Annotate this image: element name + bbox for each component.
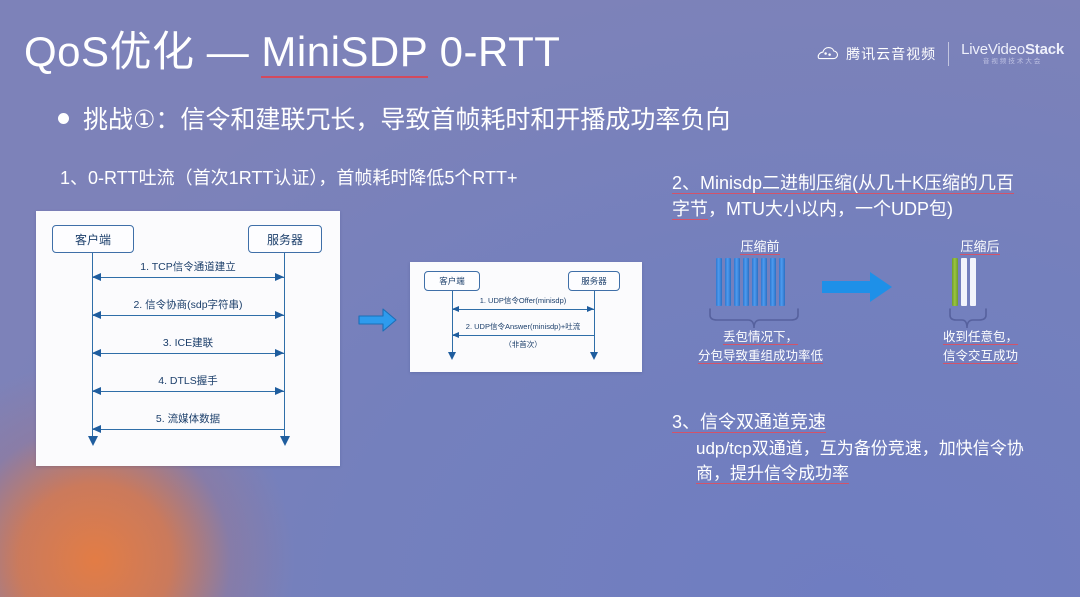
section-2-heading-line2b: ，MTU大小以内，一个UDP包) xyxy=(708,199,953,219)
message-arrow-right-3-left xyxy=(275,349,284,357)
bullet-dot-icon xyxy=(58,113,69,124)
message-arrow-left-2-left xyxy=(92,311,101,319)
page-title-prefix: QoS优化 — xyxy=(24,28,261,75)
compression-before-note: 丢包情况下， 分包导致重组成功率低 xyxy=(688,328,833,366)
message-arrow-left-3-left xyxy=(92,349,101,357)
logo-bar: 腾讯云音视频 LiveVideoStack 音视频技术大会 xyxy=(817,42,1064,66)
message-arrow-left-4-left xyxy=(92,387,101,395)
lifeline-server-right xyxy=(594,291,595,354)
sequence-diagram-before: 客户端 服务器 1. TCP信令通道建立 2. 信令协商(sdp字符串) 3. … xyxy=(36,211,340,466)
cloud-icon xyxy=(817,47,839,62)
compression-after-bars xyxy=(952,258,976,306)
actor-server-left: 服务器 xyxy=(248,225,322,253)
tencent-cloud-logo: 腾讯云音视频 xyxy=(817,44,936,64)
message-line-2-right xyxy=(452,335,594,336)
message-label-4-left: 4. DTLS握手 xyxy=(92,373,284,388)
message-label-1-left: 1. TCP信令通道建立 xyxy=(92,259,284,274)
page-title-suffix: 0-RTT xyxy=(428,28,561,75)
message-arrow-right-1-right xyxy=(587,306,594,312)
compression-arrow-icon xyxy=(822,270,894,309)
logo-divider xyxy=(948,42,949,66)
actor-server-right: 服务器 xyxy=(568,271,620,291)
message-label-5-left: 5. 流媒体数据 xyxy=(92,411,284,426)
packet-bar xyxy=(770,258,776,306)
packet-bar xyxy=(752,258,758,306)
packet-bar-compressed xyxy=(952,258,958,306)
message-arrow-right-1-left xyxy=(275,273,284,281)
lifeline-server-left xyxy=(284,253,285,438)
section-3-heading-label: 3、信令双通道竞速 xyxy=(672,412,826,433)
section-3-body-line1: udp/tcp双通道，互为备份竞速，加快信令协 xyxy=(696,439,1024,458)
slide-root: QoS优化 — MiniSDP 0-RTT 腾讯云音视频 LiveVideoSt… xyxy=(0,0,1080,597)
message-line-3-left xyxy=(92,353,284,354)
message-line-1-left xyxy=(92,277,284,278)
packet-bar xyxy=(761,258,767,306)
section-3-heading: 3、信令双通道竞速 xyxy=(672,408,826,434)
message-label-2-left: 2. 信令协商(sdp字符串) xyxy=(92,297,284,312)
message-line-1-right xyxy=(452,309,594,310)
challenge-bullet-label: 挑战①：信令和建联冗长，导致首帧耗时和开播成功率负向 xyxy=(83,100,730,136)
packet-bar xyxy=(725,258,731,306)
packet-bar xyxy=(779,258,785,306)
packet-bar xyxy=(743,258,749,306)
compression-after-note: 收到任意包， 信令交互成功 xyxy=(908,328,1053,366)
actor-client-right: 客户端 xyxy=(424,271,480,291)
challenge-bullet: 挑战①：信令和建联冗长，导致首帧耗时和开播成功率负向 xyxy=(58,100,730,136)
message-label-2-right: 2. UDP信令Answer(minisdp)+吐流 xyxy=(452,321,594,332)
lifeline-server-end-arrow-right xyxy=(590,352,598,360)
tencent-cloud-label: 腾讯云音视频 xyxy=(846,44,936,64)
packet-bar xyxy=(734,258,740,306)
message-footnote-right: （非首次） xyxy=(452,339,594,350)
compression-after-label: 压缩后 xyxy=(925,236,1035,255)
livevideostack-wordmark: LiveVideoStack xyxy=(961,42,1064,58)
section-1-heading: 1、0-RTT吐流（首次1RTT认证），首帧耗时降低5个RTT+ xyxy=(60,164,518,190)
packet-bar-compressed xyxy=(961,258,967,306)
actor-client-left: 客户端 xyxy=(52,225,134,253)
livevideostack-logo: LiveVideoStack 音视频技术大会 xyxy=(961,42,1064,66)
message-label-3-left: 3. ICE建联 xyxy=(92,335,284,350)
page-title: QoS优化 — MiniSDP 0-RTT xyxy=(24,18,560,79)
packet-bar xyxy=(716,258,722,306)
livevideostack-tagline: 音视频技术大会 xyxy=(961,59,1064,66)
section-2-heading-line1: 2、Minisdp二进制压缩(从几十K压缩的几百 xyxy=(672,173,1014,194)
packet-bar-compressed xyxy=(970,258,976,306)
section-2-heading-line2a: 字节 xyxy=(672,199,708,220)
message-arrow-left-1-right xyxy=(452,306,459,312)
section-3-body: udp/tcp双通道，互为备份竞速，加快信令协 商，提升信令成功率 xyxy=(696,437,1068,486)
sequence-diagram-after: 客户端 服务器 1. UDP信令Offer(minisdp) 2. UDP信令A… xyxy=(410,262,642,372)
message-line-5-left xyxy=(92,429,284,430)
message-line-2-left xyxy=(92,315,284,316)
lifeline-client-end-arrow-right xyxy=(448,352,456,360)
compression-before-bars xyxy=(716,258,785,306)
transform-arrow-icon xyxy=(358,307,398,338)
message-arrow-left-5-left xyxy=(92,425,101,433)
message-arrow-left-1-left xyxy=(92,273,101,281)
lifeline-client-end-arrow-left xyxy=(88,436,98,446)
message-arrow-right-4-left xyxy=(275,387,284,395)
message-arrow-left-2-right xyxy=(452,332,459,338)
page-title-underlined: MiniSDP xyxy=(261,28,427,78)
message-line-4-left xyxy=(92,391,284,392)
message-arrow-right-2-left xyxy=(275,311,284,319)
compression-before-label: 压缩前 xyxy=(700,236,820,255)
section-2-heading: 2、Minisdp二进制压缩(从几十K压缩的几百 字节，MTU大小以内，一个UD… xyxy=(672,170,1072,222)
lifeline-server-end-arrow-left xyxy=(280,436,290,446)
section-3-body-line2: 商，提升信令成功率 xyxy=(696,464,849,484)
message-label-1-right: 1. UDP信令Offer(minisdp) xyxy=(452,295,594,306)
